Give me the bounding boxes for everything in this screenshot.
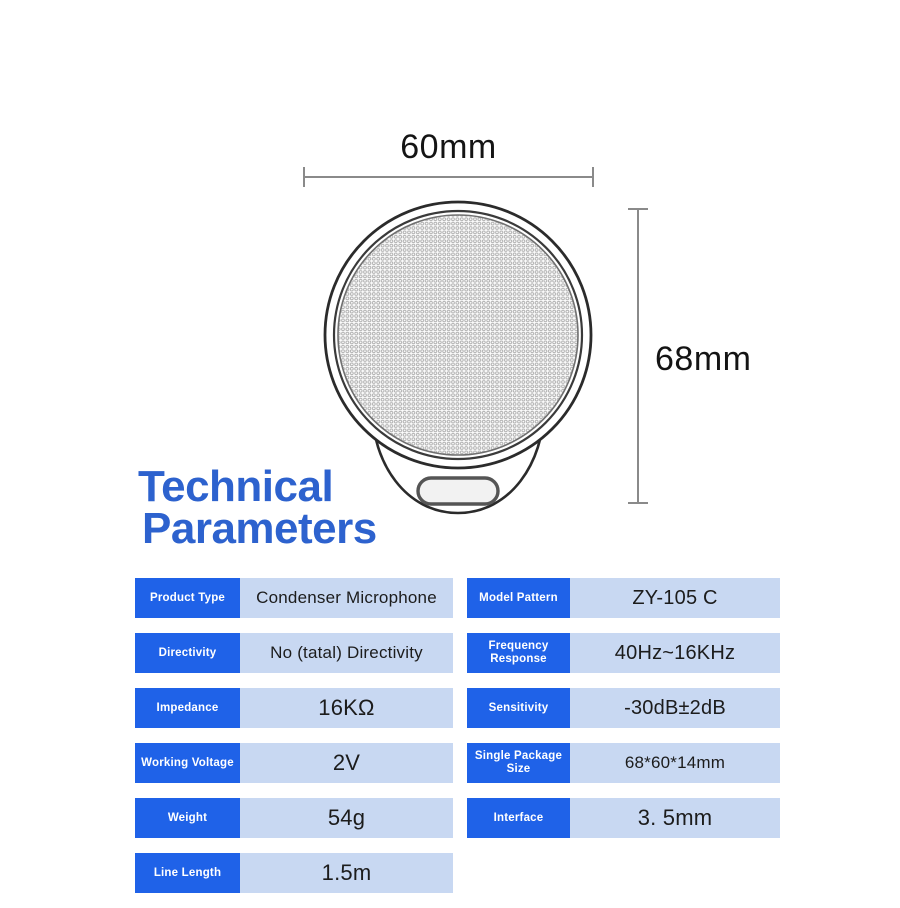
spec-key-cell: Working Voltage [135, 743, 240, 783]
page-title-line-2: Parameters [142, 508, 468, 550]
spec-key-cell: Model Pattern [467, 578, 570, 618]
spec-key-cell: Product Type [135, 578, 240, 618]
height-dimension-label: 68mm [655, 340, 751, 379]
width-dimension-label: 60mm [303, 128, 594, 167]
spec-value-cell: No (tatal) Directivity [240, 633, 453, 673]
table-row: Impedance16KΩ [135, 688, 453, 728]
table-row: Interface3. 5mm [467, 798, 780, 838]
spec-value-cell: 40Hz~16KHz [570, 633, 780, 673]
spec-column-right: Model PatternZY-105 CFrequency Response4… [467, 578, 780, 853]
width-dimension-line [303, 176, 594, 178]
spec-key-cell: Single Package Size [467, 743, 570, 783]
specifications-table: Product TypeCondenser MicrophoneDirectiv… [0, 578, 900, 898]
spec-column-left: Product TypeCondenser MicrophoneDirectiv… [135, 578, 453, 908]
spec-key-cell: Line Length [135, 853, 240, 893]
spec-value-cell: 3. 5mm [570, 798, 780, 838]
table-row: DirectivityNo (tatal) Directivity [135, 633, 453, 673]
table-row: Sensitivity-30dB±2dB [467, 688, 780, 728]
spec-value-cell: -30dB±2dB [570, 688, 780, 728]
page-title: Technical Parameters [138, 466, 468, 550]
spec-value-cell: 68*60*14mm [570, 743, 780, 783]
width-dimension-cap-right [592, 167, 594, 187]
microphone-mesh-grille [338, 215, 578, 455]
spec-value-cell: Condenser Microphone [240, 578, 453, 618]
spec-value-cell: 2V [240, 743, 453, 783]
table-row: Line Length1.5m [135, 853, 453, 893]
spec-key-cell: Interface [467, 798, 570, 838]
spec-key-cell: Frequency Response [467, 633, 570, 673]
spec-key-cell: Weight [135, 798, 240, 838]
height-dimension-cap-bottom [628, 502, 648, 504]
table-row: Product TypeCondenser Microphone [135, 578, 453, 618]
height-dimension-cap-top [628, 208, 648, 210]
spec-value-cell: 54g [240, 798, 453, 838]
spec-key-cell: Directivity [135, 633, 240, 673]
table-row: Weight54g [135, 798, 453, 838]
table-row: Working Voltage2V [135, 743, 453, 783]
height-dimension-line [637, 208, 639, 504]
table-row: Frequency Response40Hz~16KHz [467, 633, 780, 673]
spec-value-cell: 16KΩ [240, 688, 453, 728]
width-dimension-cap-left [303, 167, 305, 187]
spec-key-cell: Impedance [135, 688, 240, 728]
spec-value-cell: 1.5m [240, 853, 453, 893]
table-row: Model PatternZY-105 C [467, 578, 780, 618]
spec-value-cell: ZY-105 C [570, 578, 780, 618]
table-row: Single Package Size68*60*14mm [467, 743, 780, 783]
spec-key-cell: Sensitivity [467, 688, 570, 728]
